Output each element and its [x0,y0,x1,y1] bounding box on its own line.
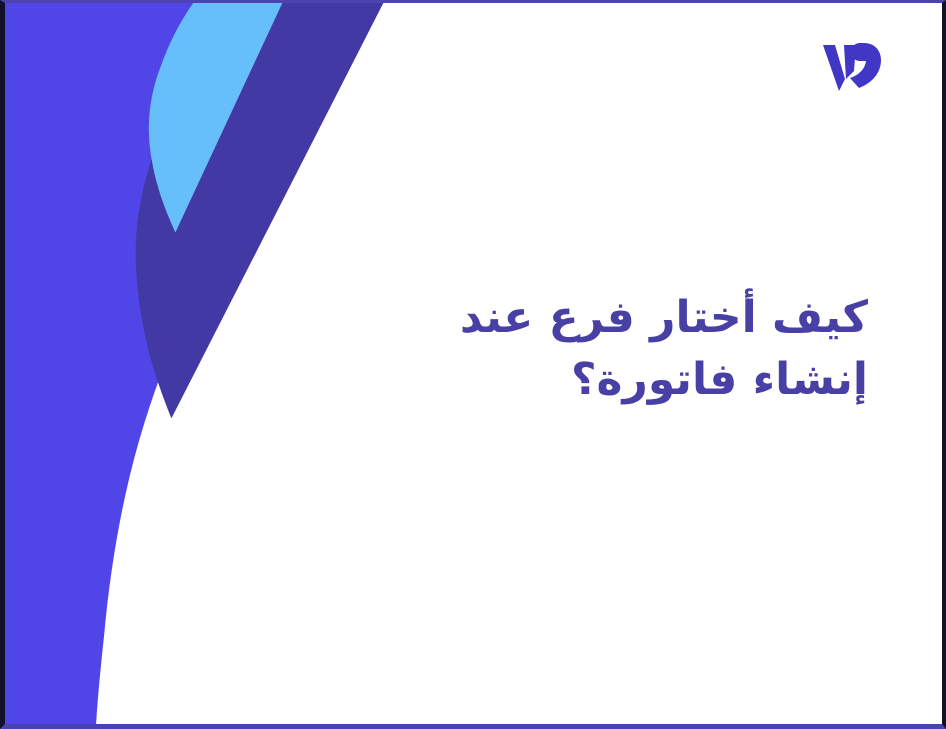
decor-shape-sky-accent [149,3,282,232]
headline-block: كيف أختار فرع عند إنشاء فاتورة؟ [398,287,868,412]
wafeq-logo-icon [823,43,881,91]
brand-logo [820,37,890,93]
decor-shape-indigo-base [5,3,314,724]
faq-question-card: كيف أختار فرع عند إنشاء فاتورة؟ [0,0,946,729]
question-headline: كيف أختار فرع عند إنشاء فاتورة؟ [398,287,868,412]
decor-shape-purple-band [136,3,384,418]
